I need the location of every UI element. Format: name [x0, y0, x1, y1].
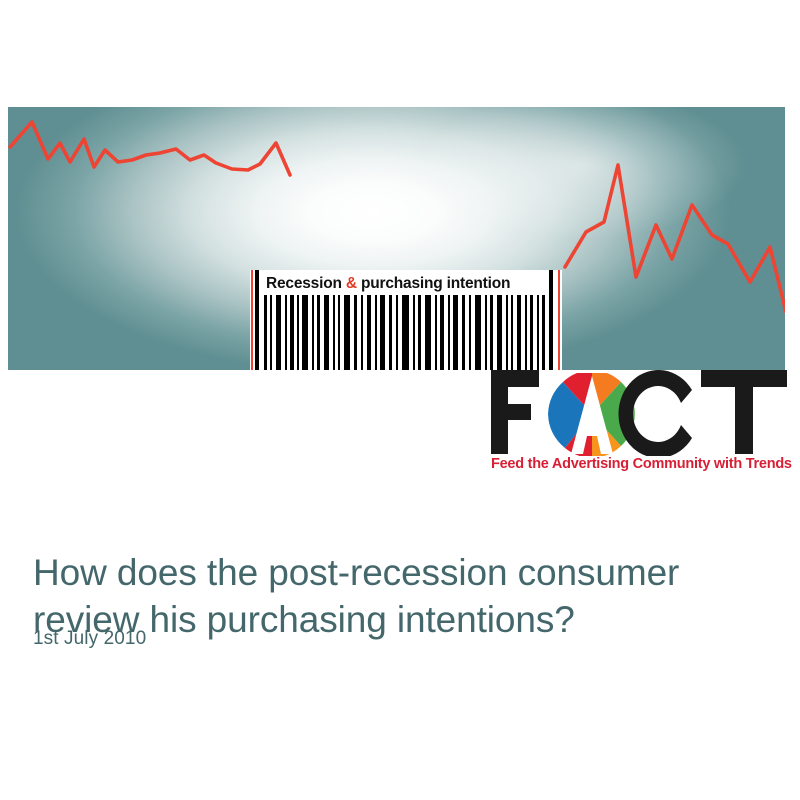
barcode-title-suffix: purchasing intention	[357, 275, 510, 292]
fact-wordmark	[489, 368, 789, 456]
headline-line-1: How does the post-recession consumer	[33, 549, 763, 596]
barcode-title-text: Recession & purchasing intention	[266, 273, 548, 295]
barcode-red-edge-left	[251, 270, 253, 370]
fact-logo: Feed the Advertising Community with Tren…	[489, 368, 789, 478]
fact-letter-c	[618, 370, 692, 456]
hero-banner-image: Recession & purchasing intention	[8, 107, 785, 370]
fact-letter-f	[491, 370, 539, 454]
barcode-title-ampersand: &	[346, 275, 357, 292]
slide-root: Recession & purchasing intention	[0, 0, 800, 800]
barcode-graphic: Recession & purchasing intention	[250, 270, 562, 370]
trend-line-right	[565, 165, 785, 312]
barcode-title-prefix: Recession	[266, 275, 346, 292]
trend-line-left	[10, 122, 290, 175]
fact-tagline: Feed the Advertising Community with Tren…	[491, 456, 789, 472]
barcode-red-edge-right	[558, 270, 560, 370]
barcode-bars	[250, 295, 562, 370]
deck-date: 1st July 2010	[33, 628, 146, 650]
fact-letter-t	[701, 370, 787, 454]
